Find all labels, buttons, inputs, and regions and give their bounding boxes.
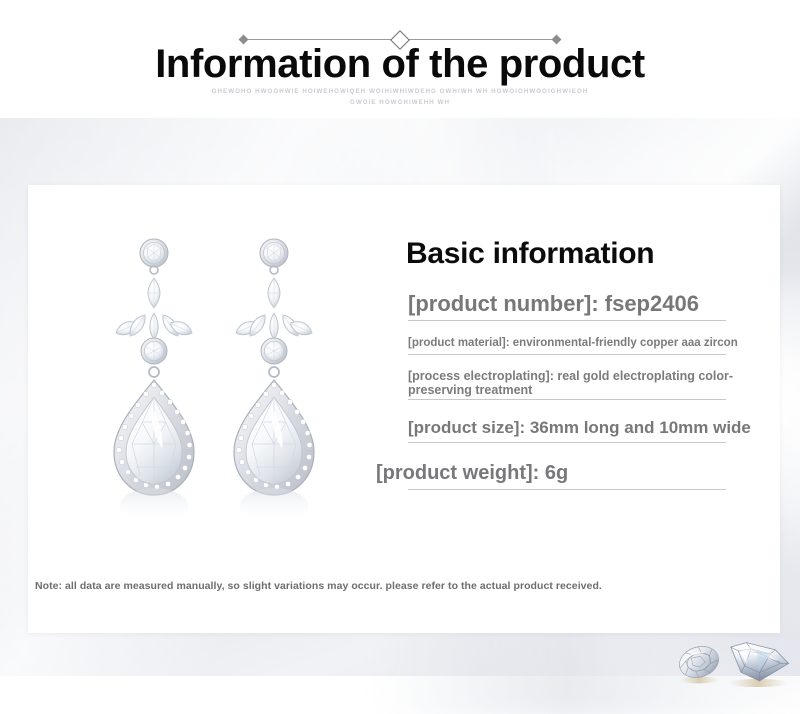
basic-information-heading: Basic information <box>406 236 790 272</box>
earrings-illustration <box>92 225 336 535</box>
product-size-underline <box>408 442 726 443</box>
info-row-product-size: [product size]: 36mm long and 10mm wide <box>370 416 790 443</box>
process-electroplating-value: [process electroplating]: real gold elec… <box>408 369 790 400</box>
info-row-process-electroplating: [process electroplating]: real gold elec… <box>370 369 790 400</box>
product-weight-value: [product weight]: 6g <box>376 459 790 490</box>
product-material-underline <box>408 354 726 355</box>
product-size-value: [product size]: 36mm long and 10mm wide <box>408 416 790 443</box>
process-electroplating-underline <box>408 399 726 400</box>
info-row-product-number: [product number]: fsep2406 <box>370 290 790 321</box>
measurement-note: Note: all data are measured manually, so… <box>35 580 602 592</box>
product-material-value: [product material]: environmental-friend… <box>408 335 790 355</box>
info-row-product-weight: [product weight]: 6g <box>370 459 790 490</box>
product-number-underline <box>408 320 726 321</box>
product-weight-underline <box>408 489 726 490</box>
info-row-product-material: [product material]: environmental-friend… <box>370 335 790 355</box>
product-number-value: [product number]: fsep2406 <box>408 290 790 321</box>
basic-information-block: Basic information [product number]: fsep… <box>370 236 790 490</box>
product-info-page: Information of the product GHEWOHO HWOGH… <box>0 0 800 714</box>
loose-diamonds-icon <box>672 636 800 688</box>
